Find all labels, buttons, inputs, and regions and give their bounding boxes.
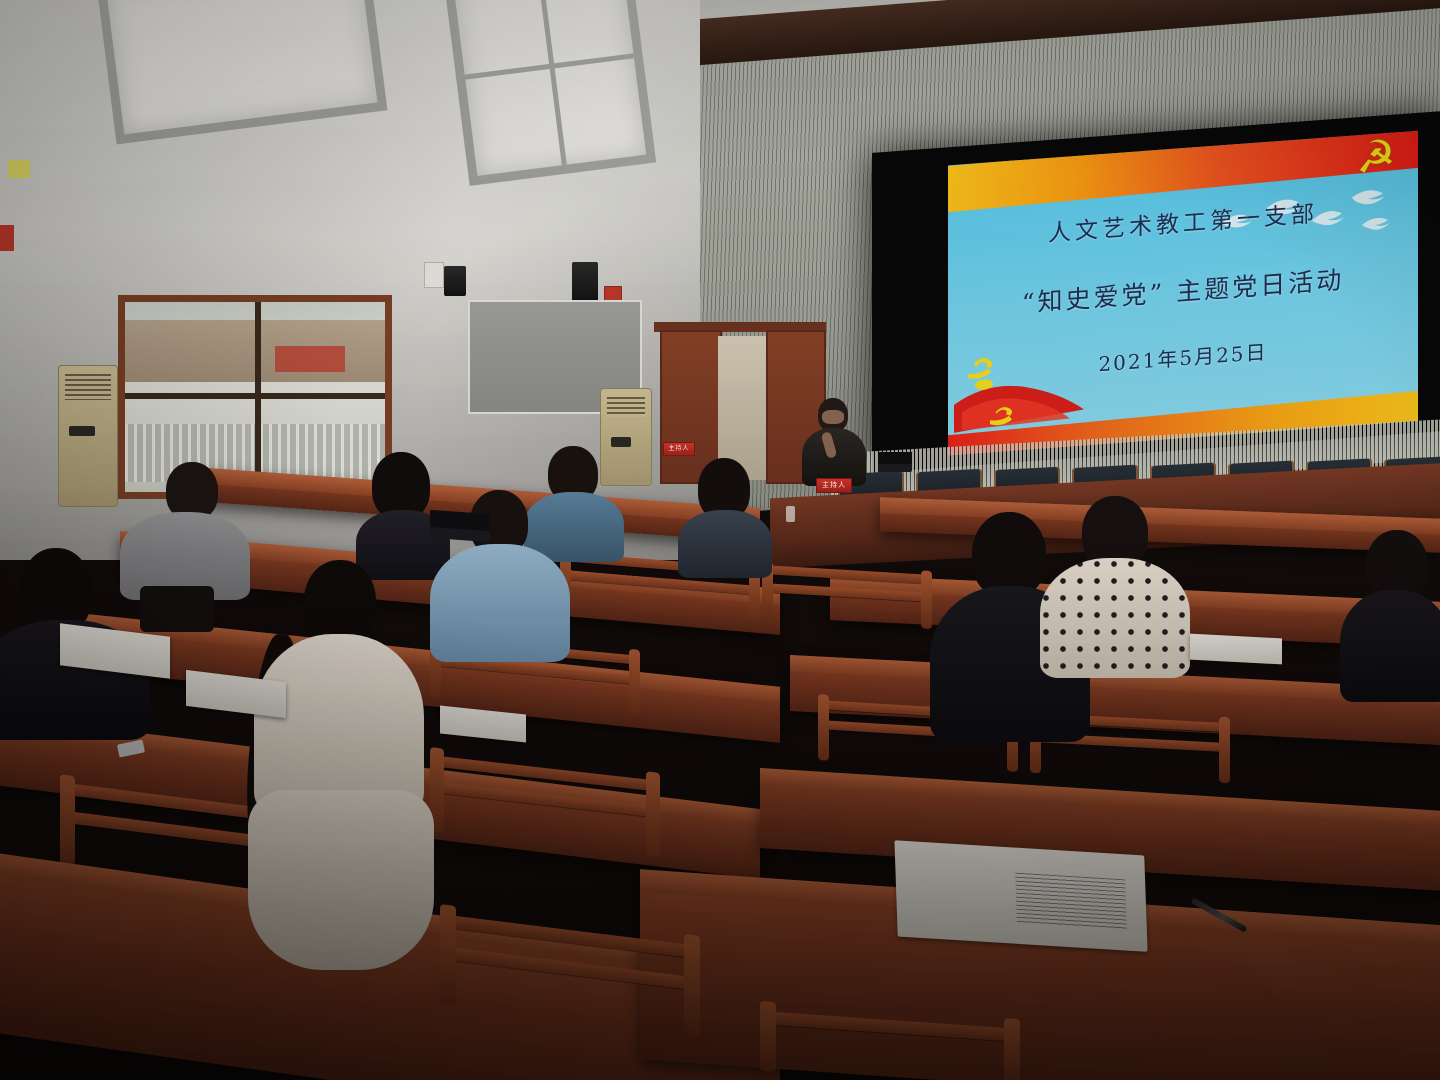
presenter [800, 398, 870, 488]
wall-junction-box [424, 262, 444, 288]
paper-sheet-right [1190, 634, 1282, 665]
side-nameplate: 主持人 [663, 442, 695, 456]
air-conditioner-left [58, 365, 118, 507]
slide-theme-line: “知史爱党” 主题党日活动 [948, 255, 1418, 326]
handbag [140, 586, 214, 632]
presentation-slide: ☭ [948, 131, 1418, 456]
wall-speaker-left [444, 266, 466, 296]
attendee-white-dress [242, 560, 432, 980]
attendee-dark-navy-back [676, 458, 774, 568]
attendee-polkadot-blouse [1040, 496, 1190, 676]
open-booklet-foreground [894, 840, 1147, 952]
presenter-nameplate: 主持人 [816, 478, 852, 493]
attendee-dark-top-far-right [1340, 530, 1440, 700]
hammer-and-sickle-icon: ☭ [1348, 134, 1404, 182]
slide-text-block: 人文艺术教工第一支部 “知史爱党” 主题党日活动 2021年5月25日 [948, 187, 1418, 389]
meeting-room-photo: ☭ [0, 0, 1440, 1080]
wall-speaker-right [572, 262, 598, 302]
slide-date-line: 2021年5月25日 [948, 325, 1418, 389]
projection-screen: ☭ [872, 111, 1440, 473]
laptop-background [430, 510, 490, 542]
fire-extinguisher-sign [0, 225, 14, 251]
water-cup [786, 506, 795, 522]
stage-laptop [878, 452, 912, 472]
bench-back-b2[interactable] [762, 561, 932, 629]
wall-notice-yellow [8, 160, 30, 178]
outdoor-banner [275, 346, 345, 372]
